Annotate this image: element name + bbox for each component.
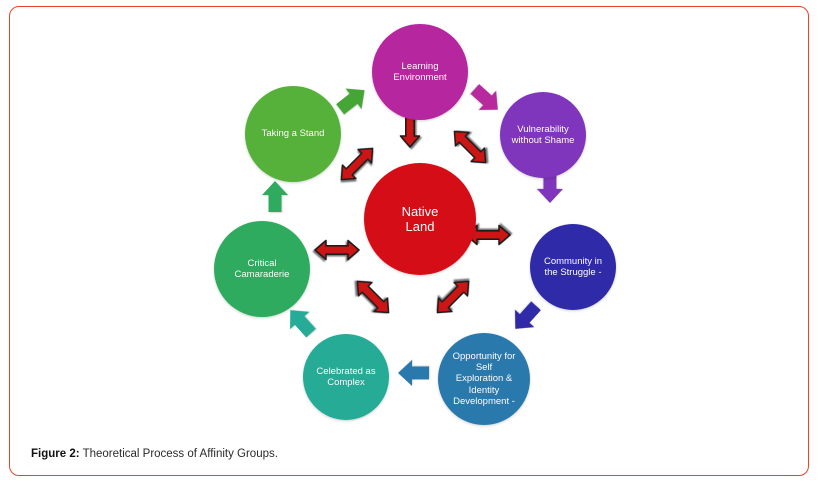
diagram-svg <box>10 7 810 432</box>
node-circle-taking-a-stand <box>245 86 341 182</box>
arrow-hub-arrow-left <box>315 241 359 260</box>
arrow-hub-arrow-lower-right <box>431 275 476 320</box>
figure-frame: Learning EnvironmentVulnerability withou… <box>9 6 809 476</box>
node-circle-critical-camaraderie <box>214 221 310 317</box>
arrow-cycle-arrow-opportunity-to-celebrated <box>398 360 429 386</box>
arrow-cycle-arrow-stand-to-learning <box>332 80 372 120</box>
node-circle-learning-environment <box>372 24 468 120</box>
arrow-hub-arrow-upper-left <box>335 142 380 187</box>
node-circle-native-land <box>364 163 476 275</box>
affinity-groups-diagram: Learning EnvironmentVulnerability withou… <box>10 7 810 432</box>
arrow-cycle-arrow-learning-to-vulnerability <box>466 79 506 119</box>
node-circle-vulnerability-without-shame <box>500 92 586 178</box>
arrow-hub-arrow-lower-left <box>351 275 396 320</box>
arrow-cycle-arrow-community-to-opportunity <box>506 297 546 337</box>
caption-prefix: Figure 2: <box>31 448 80 460</box>
arrow-hub-arrow-upper-right <box>448 125 493 170</box>
node-circle-celebrated-as-complex <box>303 334 389 420</box>
node-circle-opportunity-for-self-exploration <box>438 333 530 425</box>
caption-text: Theoretical Process of Affinity Groups. <box>83 448 278 460</box>
arrow-cycle-arrow-critical-to-stand <box>262 181 288 212</box>
nodes-layer <box>214 24 616 425</box>
node-circle-community-in-the-struggle <box>530 224 616 310</box>
figure-caption: Figure 2: Theoretical Process of Affinit… <box>31 447 771 462</box>
